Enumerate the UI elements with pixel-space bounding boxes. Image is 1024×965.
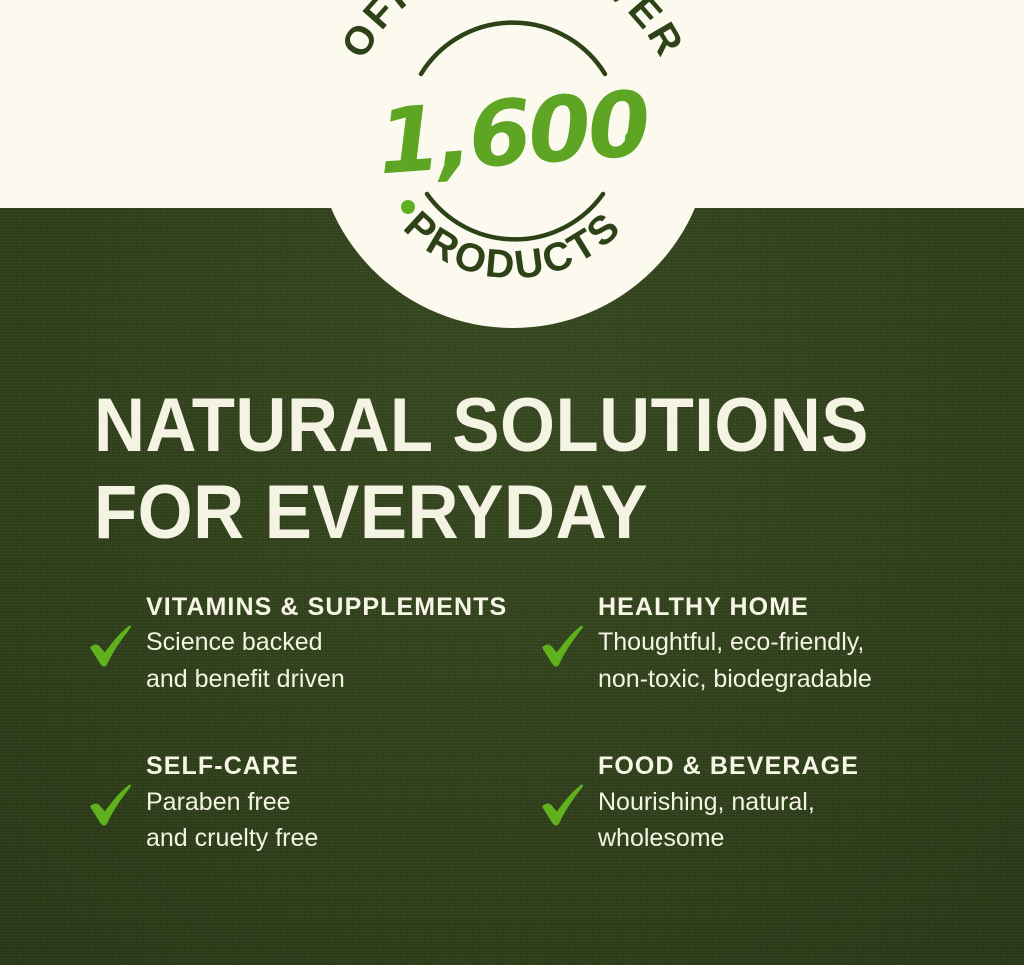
feature-desc-line-2: and benefit driven xyxy=(146,661,507,698)
feature-desc-line-2: wholesome xyxy=(598,820,859,857)
page-title: NATURAL SOLUTIONS FOR EVERYDAY xyxy=(94,383,912,556)
feature-item-vitamins-supplements: VITAMINS & SUPPLEMENTS Science backed an… xyxy=(88,592,540,697)
feature-desc-line-1: Science backed xyxy=(146,624,507,661)
feature-title: HEALTHY HOME xyxy=(598,592,872,623)
feature-desc-line-2: and cruelty free xyxy=(146,820,318,857)
badge-count-wrapper: 1,600 xyxy=(315,0,711,328)
feature-item-self-care: SELF-CARE Paraben free and cruelty free xyxy=(88,751,540,856)
feature-title-line-2: SUPPLEMENTS xyxy=(308,593,508,621)
check-icon xyxy=(88,622,132,668)
feature-title: SELF-CARE xyxy=(146,751,318,782)
feature-text-block: FOOD & BEVERAGE Nourishing, natural, who… xyxy=(598,751,859,856)
feature-title-line-1: SELF-CARE xyxy=(146,752,299,780)
feature-title: FOOD & BEVERAGE xyxy=(598,751,859,782)
check-icon xyxy=(540,622,584,668)
feature-desc-line-2: non-toxic, biodegradable xyxy=(598,661,872,698)
feature-desc-line-1: Paraben free xyxy=(146,784,318,821)
feature-title: VITAMINS & SUPPLEMENTS xyxy=(146,592,507,623)
badge-count-value: 1,600 xyxy=(375,80,650,189)
feature-text-block: VITAMINS & SUPPLEMENTS Science backed an… xyxy=(146,592,507,697)
feature-item-healthy-home: HEALTHY HOME Thoughtful, eco-friendly, n… xyxy=(540,592,988,697)
feature-text-block: HEALTHY HOME Thoughtful, eco-friendly, n… xyxy=(598,592,872,697)
headline-line-1: NATURAL SOLUTIONS xyxy=(94,383,912,470)
feature-title-line-1: HEALTHY HOME xyxy=(598,593,809,621)
feature-desc-line-1: Thoughtful, eco-friendly, xyxy=(598,624,872,661)
feature-title-line-1: VITAMINS & xyxy=(146,593,300,621)
feature-description: Science backed and benefit driven xyxy=(146,624,507,697)
feature-desc-line-1: Nourishing, natural, xyxy=(598,784,859,821)
feature-list: VITAMINS & SUPPLEMENTS Science backed an… xyxy=(88,592,988,857)
feature-description: Paraben free and cruelty free xyxy=(146,784,318,857)
feature-description: Thoughtful, eco-friendly, non-toxic, bio… xyxy=(598,624,872,697)
feature-text-block: SELF-CARE Paraben free and cruelty free xyxy=(146,751,318,856)
promo-banner: OFFERING OVER PRODUCTS 1,600 NATURAL SOL… xyxy=(0,0,1024,965)
headline-line-2: FOR EVERYDAY xyxy=(94,470,912,557)
check-icon xyxy=(540,781,584,827)
feature-description: Nourishing, natural, wholesome xyxy=(598,784,859,857)
check-icon xyxy=(88,781,132,827)
feature-title-line-1: FOOD & BEVERAGE xyxy=(598,752,859,780)
feature-item-food-beverage: FOOD & BEVERAGE Nourishing, natural, who… xyxy=(540,751,988,856)
